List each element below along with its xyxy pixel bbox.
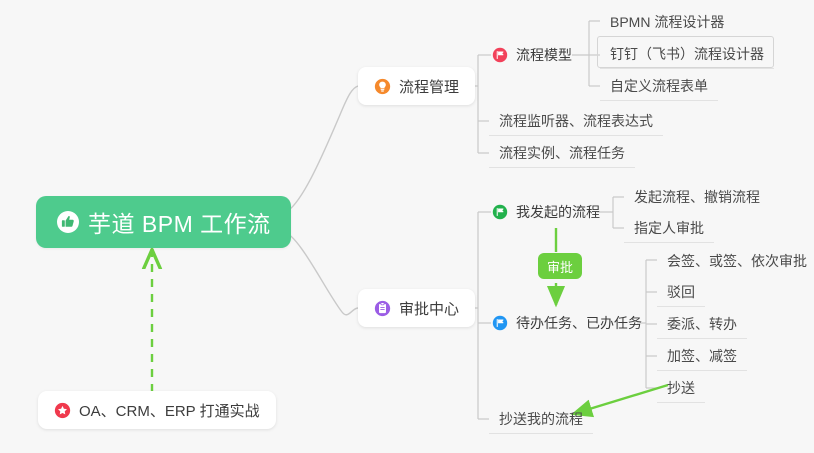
leaf-node-cc-to-me-flow[interactable]: 抄送我的流程: [489, 404, 593, 434]
connector-root-to-approval-center: [283, 231, 358, 315]
leaf-label: 驳回: [667, 282, 695, 302]
flag-icon-red: [492, 47, 508, 63]
branch-label-process-management: 流程管理: [399, 76, 459, 97]
leaf-label: 自定义流程表单: [610, 76, 708, 96]
leaf-label: 会签、或签、依次审批: [667, 251, 807, 271]
leaf-node-custom-process-form[interactable]: 自定义流程表单: [600, 71, 718, 101]
leaf-label: 委派、转办: [667, 314, 737, 334]
badge-node-approval[interactable]: 审批: [538, 253, 582, 279]
selection-box-dingtalk-feishu-designer[interactable]: [597, 36, 774, 68]
leaf-label: 抄送我的流程: [499, 409, 583, 429]
flag-icon-blue: [492, 315, 508, 331]
leaf-node-delegate-transfer[interactable]: 委派、转办: [657, 309, 747, 339]
badge-label: 审批: [547, 257, 573, 276]
branch-label-approval-center: 审批中心: [399, 298, 459, 319]
leaf-node-listener-expression[interactable]: 流程监听器、流程表达式: [489, 106, 663, 136]
root-node[interactable]: 芋道 BPM 工作流: [36, 196, 291, 248]
leaf-node-bpmn-designer[interactable]: BPMN 流程设计器: [600, 7, 734, 37]
leaf-node-add-remove-sign[interactable]: 加签、减签: [657, 341, 747, 371]
leaf-label: BPMN 流程设计器: [610, 12, 724, 32]
leaf-label: 抄送: [667, 378, 695, 398]
sub-node-todo-done-tasks[interactable]: 待办任务、已办任务: [492, 310, 642, 336]
leaf-node-countersign[interactable]: 会签、或签、依次审批: [657, 246, 814, 276]
leaf-node-start-cancel-process[interactable]: 发起流程、撤销流程: [624, 182, 770, 212]
card-node-integration[interactable]: OA、CRM、ERP 打通实战: [38, 391, 276, 429]
leaf-label: 发起流程、撤销流程: [634, 187, 760, 207]
leaf-node-cc[interactable]: 抄送: [657, 373, 705, 403]
sub-node-my-initiated[interactable]: 我发起的流程: [492, 199, 600, 225]
leaf-label: 流程监听器、流程表达式: [499, 111, 653, 131]
sub-label-todo-done-tasks: 待办任务、已办任务: [516, 313, 642, 333]
leaf-label: 指定人审批: [634, 218, 704, 238]
thumbs-up-icon: [56, 210, 80, 234]
sub-label-my-initiated: 我发起的流程: [516, 202, 600, 222]
sub-node-process-model[interactable]: 流程模型: [492, 42, 572, 68]
leaf-node-reject[interactable]: 驳回: [657, 277, 705, 307]
card-label-integration: OA、CRM、ERP 打通实战: [79, 400, 260, 421]
root-label: 芋道 BPM 工作流: [88, 205, 271, 239]
leaf-label: 流程实例、流程任务: [499, 143, 625, 163]
mindmap-canvas: 芋道 BPM 工作流 流程管理 审批中心: [0, 0, 814, 453]
clipboard-icon: [374, 300, 391, 317]
branch-node-process-management[interactable]: 流程管理: [358, 67, 475, 105]
flag-icon-green: [492, 204, 508, 220]
lightbulb-icon: [374, 78, 391, 95]
leaf-node-assignee-approval[interactable]: 指定人审批: [624, 213, 714, 243]
connector-root-to-process-management: [283, 86, 358, 213]
leaf-node-instance-task[interactable]: 流程实例、流程任务: [489, 138, 635, 168]
branch-node-approval-center[interactable]: 审批中心: [358, 289, 475, 327]
sub-label-process-model: 流程模型: [516, 45, 572, 65]
leaf-label: 加签、减签: [667, 346, 737, 366]
star-icon: [54, 402, 71, 419]
